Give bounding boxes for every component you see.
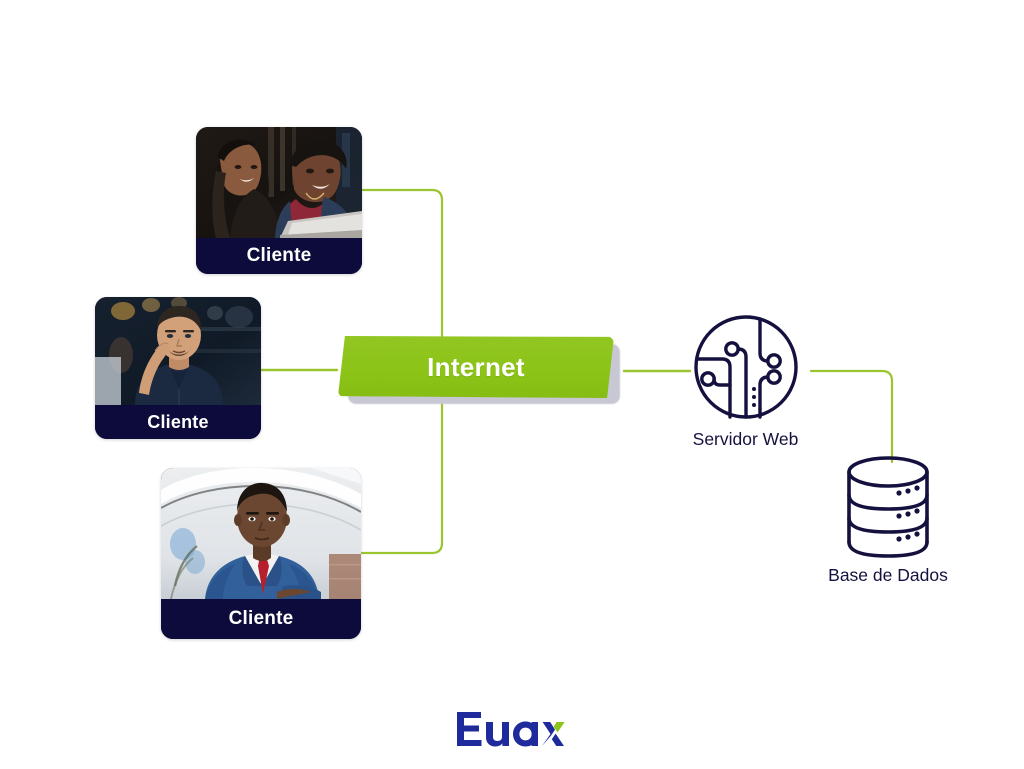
server-node[interactable]: Servidor Web	[683, 313, 808, 458]
database-cylinder-icon	[844, 455, 932, 564]
server-label: Servidor Web	[683, 429, 808, 450]
internet-node[interactable]: Internet	[338, 336, 620, 404]
circuit-board-circle-icon	[692, 313, 800, 426]
client-label-2: Cliente	[95, 405, 261, 439]
euax-logo: Euax	[455, 708, 573, 750]
database-node[interactable]: Base de Dados	[812, 455, 964, 595]
client-photo-2	[95, 297, 261, 405]
connector-server-to-database	[811, 371, 892, 462]
client-node-2[interactable]: Cliente	[95, 297, 261, 439]
connector-client3-to-internet	[362, 404, 442, 553]
internet-label: Internet	[338, 336, 614, 398]
client-photo-1	[196, 127, 362, 238]
client-label-3: Cliente	[161, 599, 361, 639]
brand-name: Euax	[573, 708, 574, 709]
client-label-1: Cliente	[196, 238, 362, 274]
diagram-canvas: Cliente	[0, 0, 1024, 769]
database-label: Base de Dados	[812, 565, 964, 586]
client-photo-3	[161, 468, 361, 599]
client-node-3[interactable]: Cliente	[161, 468, 361, 639]
client-node-1[interactable]: Cliente	[196, 127, 362, 274]
connector-client1-to-internet	[363, 190, 442, 338]
